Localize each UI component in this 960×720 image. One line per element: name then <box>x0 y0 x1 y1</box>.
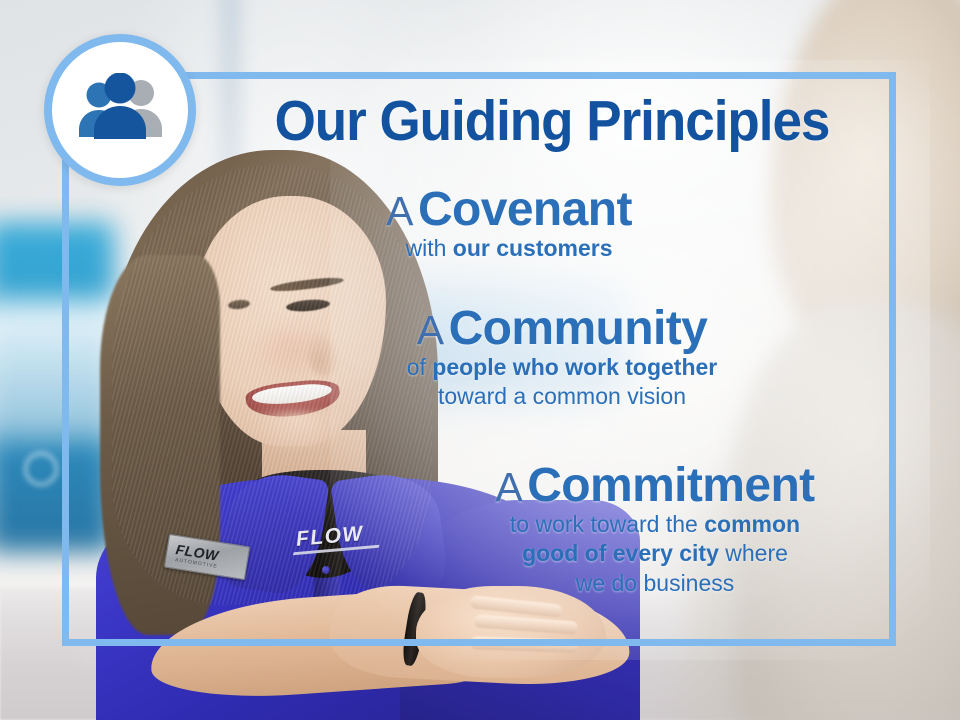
principle-word: Community <box>449 302 708 355</box>
principle-subtext: with our customers <box>344 234 674 263</box>
people-group-icon <box>70 73 170 147</box>
principle-word: Commitment <box>527 459 814 512</box>
principle-article: A <box>417 307 444 353</box>
principle-heading: A Covenant <box>344 186 674 234</box>
chest-flow-logo: FLOW <box>295 522 365 552</box>
principle-commitment: A Commitment to work toward the commongo… <box>440 462 870 598</box>
principle-subtext-line: with our customers <box>344 234 674 263</box>
principle-heading: A Commitment <box>440 462 870 510</box>
principle-subtext-line: of people who work together <box>386 353 738 382</box>
principle-heading: A Community <box>386 305 738 353</box>
page-title: Our Guiding Principles <box>236 92 868 150</box>
principle-covenant: A Covenant with our customers <box>344 186 674 263</box>
principle-subtext-line: to work toward the common <box>440 510 870 539</box>
principle-community: A Community of people who work togethert… <box>386 305 738 412</box>
guiding-principles-poster: FLOW FLOW AUTOMOTIVE Our Guidin <box>0 0 960 720</box>
principle-subtext: to work toward the commongood of every c… <box>440 510 870 598</box>
blurred-vw-logo <box>24 452 58 486</box>
principle-article: A <box>386 188 413 234</box>
principle-subtext-line: toward a common vision <box>386 382 738 411</box>
principle-article: A <box>495 464 522 510</box>
people-group-icon-badge <box>44 34 196 186</box>
principle-word: Covenant <box>418 183 632 236</box>
principle-subtext-line: good of every city where <box>440 539 870 568</box>
principle-subtext-line: we do business <box>440 569 870 598</box>
principle-subtext: of people who work togethertoward a comm… <box>386 353 738 412</box>
